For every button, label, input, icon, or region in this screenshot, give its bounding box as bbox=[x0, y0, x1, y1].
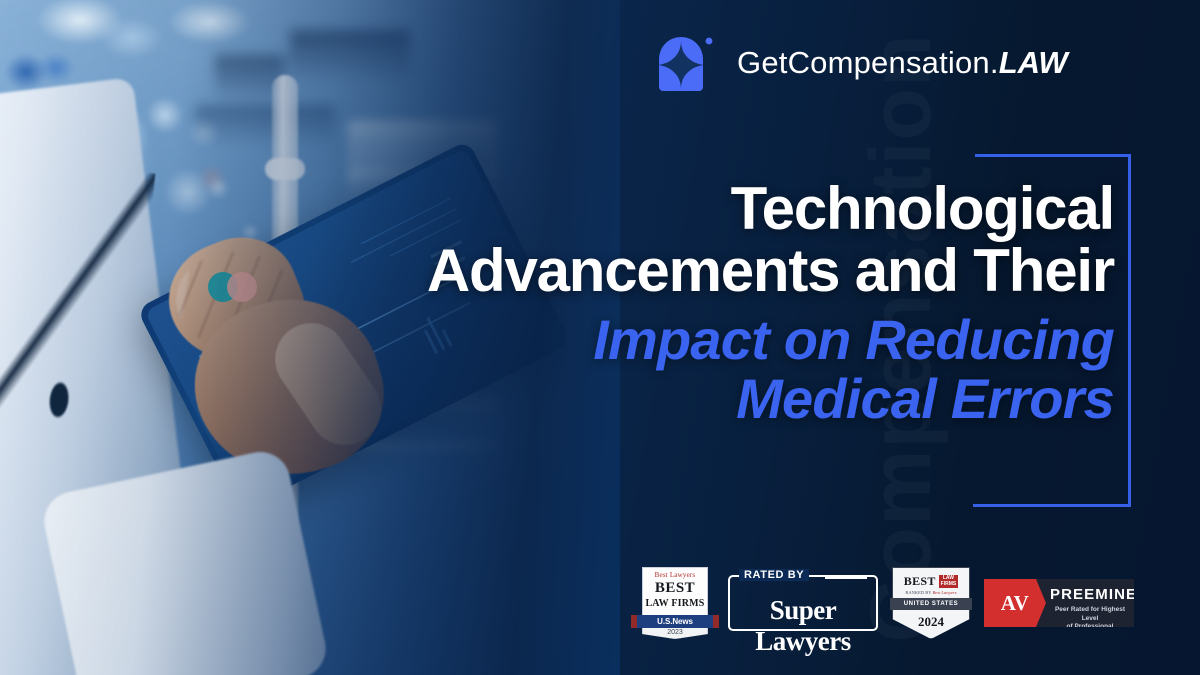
badge-year-2023: 2023 bbox=[642, 628, 708, 639]
badge-best-label: BEST bbox=[643, 581, 707, 596]
badge-rated-by-rule bbox=[825, 577, 867, 579]
badge-av-hexagon: AV bbox=[984, 579, 1046, 627]
award-badges: Best Lawyers BEST LAW FIRMS U.S.News 202… bbox=[636, 567, 1134, 639]
badge-best-lawyers-label: Best Lawyers bbox=[643, 571, 707, 579]
brand-name-primary: GetCompensation bbox=[737, 45, 990, 80]
headline-line-4: Medical Errors bbox=[354, 369, 1114, 428]
badge-av-label: AV bbox=[1001, 591, 1030, 616]
badge-av-subtitle-1: Peer Rated for Highest Level bbox=[1055, 606, 1125, 622]
badge-super-lawyers[interactable]: RATED BY Super Lawyers bbox=[728, 575, 878, 631]
brand-logo[interactable]: GetCompensation.LAW bbox=[655, 33, 1068, 93]
badge-firms-label: FIRMS bbox=[941, 581, 957, 587]
badge-usnews-ribbon: U.S.News bbox=[636, 615, 714, 628]
badge-best-label-2024: BEST bbox=[904, 574, 936, 589]
badge-best-law-firms-2024[interactable]: BEST LAW FIRMS RANKED BY Best Lawyers UN… bbox=[892, 567, 970, 639]
headline-line-1: Technological bbox=[354, 178, 1114, 240]
badge-av-subtitle-2: of Professional Excellence bbox=[1067, 623, 1114, 627]
headline-line-3: Impact on Reducing bbox=[354, 310, 1114, 369]
badge-best-law-firms-usnews[interactable]: Best Lawyers BEST LAW FIRMS U.S.News 202… bbox=[636, 567, 714, 639]
badge-ranked-by-label: RANKED BY bbox=[905, 590, 931, 595]
badge-rated-by-label: RATED BY bbox=[739, 569, 809, 581]
badge-region-label: UNITED STATES bbox=[890, 598, 972, 610]
hero-banner: Compensation GetCompensation.LAW Technol… bbox=[0, 0, 1200, 675]
badge-av-preeminent[interactable]: AV PREEMINENT® Peer Rated for Highest Le… bbox=[984, 579, 1134, 627]
arch-star-logo-icon bbox=[655, 33, 715, 93]
page-title: Technological Advancements and Their Imp… bbox=[354, 178, 1114, 428]
badge-ranked-by-brand: Best Lawyers bbox=[932, 590, 956, 595]
headline-line-2: Advancements and Their bbox=[354, 240, 1114, 302]
brand-name-dot: . bbox=[990, 45, 999, 80]
badge-law-firms-label: LAW FIRMS bbox=[643, 599, 707, 609]
badge-year-2024: 2024 bbox=[892, 614, 970, 630]
brand-name-suffix: LAW bbox=[999, 45, 1068, 80]
badge-preeminent-label: PREEMINENT bbox=[1050, 586, 1134, 603]
badge-super-lawyers-label: Super Lawyers bbox=[730, 595, 876, 657]
brand-name: GetCompensation.LAW bbox=[737, 45, 1068, 81]
